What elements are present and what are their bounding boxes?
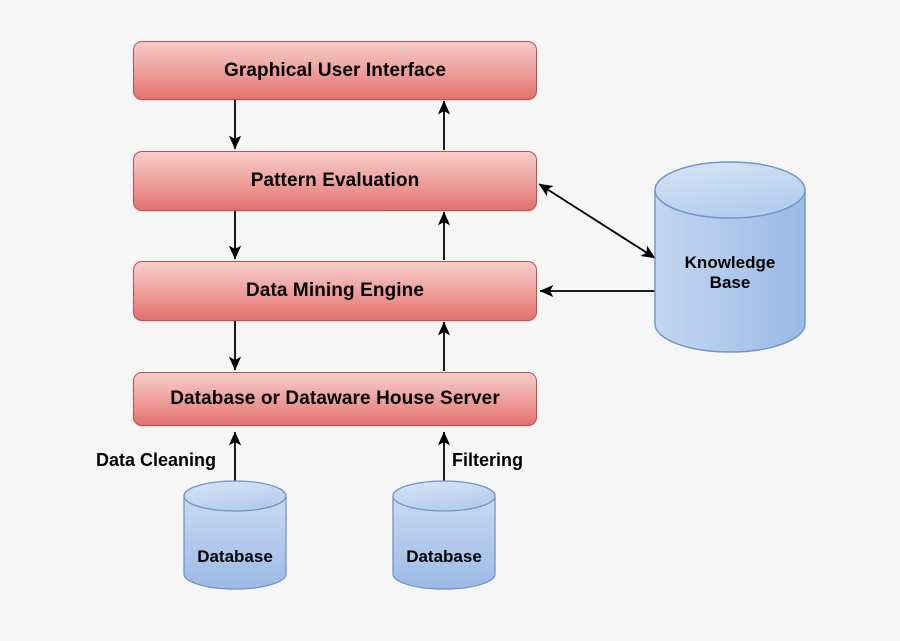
node-label-database-right: Database <box>393 547 495 567</box>
node-label-database-left: Database <box>184 547 286 567</box>
node-label-knowledge-base: Knowledge Base <box>655 253 805 293</box>
node-pattern-evaluation[interactable]: Pattern Evaluation <box>133 151 537 211</box>
node-graphical-user-interface[interactable]: Graphical User Interface <box>133 41 537 100</box>
node-label-gui: Graphical User Interface <box>224 60 446 82</box>
node-data-mining-engine[interactable]: Data Mining Engine <box>133 261 537 321</box>
arrow-knowledge-base-pattern-evaluation <box>539 184 655 258</box>
node-db-server[interactable]: Database or Dataware House Server <box>133 372 537 426</box>
edge-label-filtering: Filtering <box>452 450 523 471</box>
data-mining-architecture-diagram: Graphical User Interface Pattern Evaluat… <box>0 0 900 641</box>
database-left-cylinder <box>184 481 286 589</box>
node-label-pattern-evaluation: Pattern Evaluation <box>251 170 420 192</box>
edge-label-data-cleaning: Data Cleaning <box>96 450 216 471</box>
database-right-cylinder <box>393 481 495 589</box>
node-label-data-mining-engine: Data Mining Engine <box>246 280 424 302</box>
node-label-db-server: Database or Dataware House Server <box>170 388 500 410</box>
